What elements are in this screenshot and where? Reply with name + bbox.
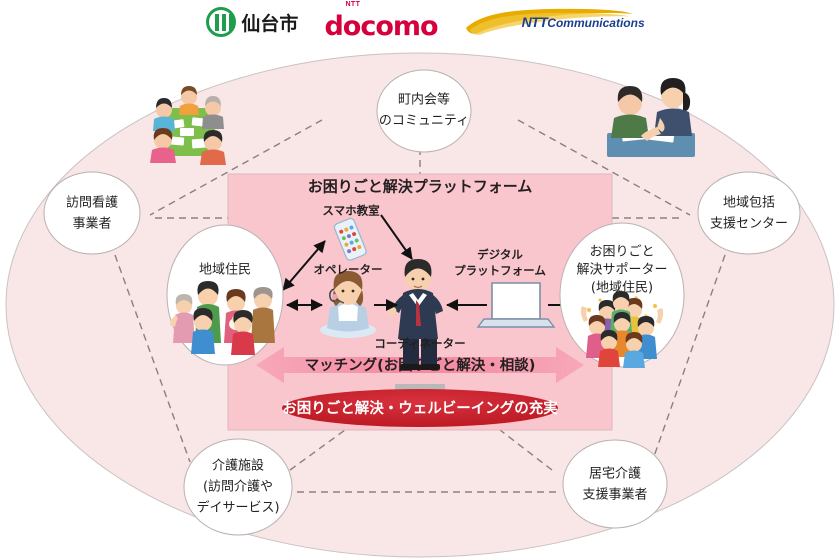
node-local-residents[interactable]: 地域住民 (167, 225, 283, 365)
node-supporter-label-line2: 解決サポーター (576, 263, 667, 278)
operator-label: オペレーター (314, 263, 383, 277)
node-care-facility-label-line3: デイサービス) (196, 500, 279, 516)
node-visiting-nursing-label-line2: 事業者 (72, 216, 111, 232)
node-home-care-label-line1: 居宅介護 (589, 466, 641, 482)
coordinator-label: コーディネーター (374, 337, 465, 351)
node-community-label-line1: 町内会等 (398, 92, 450, 108)
node-trouble-solving-supporter[interactable]: お困りごと 解決サポーター (地域住民) (560, 223, 684, 368)
node-care-facility[interactable]: 介護施設 (訪問介護や デイサービス) (184, 439, 292, 535)
community-meeting-illustration (150, 86, 226, 165)
smartphone-class-label: スマホ教室 (322, 204, 380, 218)
node-support-center-label-line2: 支援センター (710, 217, 788, 232)
node-support-center-label-line1: 地域包括 (723, 196, 775, 211)
node-community[interactable]: 町内会等 のコミュニティ (377, 70, 471, 152)
node-care-facility-label-line1: 介護施設 (212, 458, 264, 474)
node-supporter-label-line1: お困りごと (589, 244, 654, 260)
node-home-care-label-line2: 支援事業者 (582, 487, 647, 503)
node-home-care-support[interactable]: 居宅介護 支援事業者 (563, 440, 667, 528)
node-care-facility-label-line2: (訪問介護や (203, 479, 273, 495)
digital-platform-label-line2: プラットフォーム (454, 264, 546, 278)
diagram-stage: 仙台市 NTT docomo NTTCommunications (0, 0, 840, 560)
ecosystem-diagram: お困りごと解決プラットフォーム マッチング(お困りごと解決・相談) お困りごと解… (0, 0, 840, 560)
digital-platform-label-line1: デジタル (477, 248, 523, 262)
node-community-label-line2: のコミュニティ (379, 114, 469, 129)
node-visiting-nursing-label-line1: 訪問看護 (66, 195, 118, 211)
outcome-banner-label: お困りごと解決・ウェルビーイングの充実 (282, 399, 558, 417)
node-comprehensive-support-center[interactable]: 地域包括 支援センター (698, 172, 800, 254)
matching-banner-label: マッチング(お困りごと解決・相談) (305, 356, 536, 374)
node-visiting-nursing[interactable]: 訪問看護 事業者 (44, 172, 140, 254)
platform-title: お困りごと解決プラットフォーム (308, 178, 533, 196)
node-local-residents-label: 地域住民 (199, 263, 251, 278)
